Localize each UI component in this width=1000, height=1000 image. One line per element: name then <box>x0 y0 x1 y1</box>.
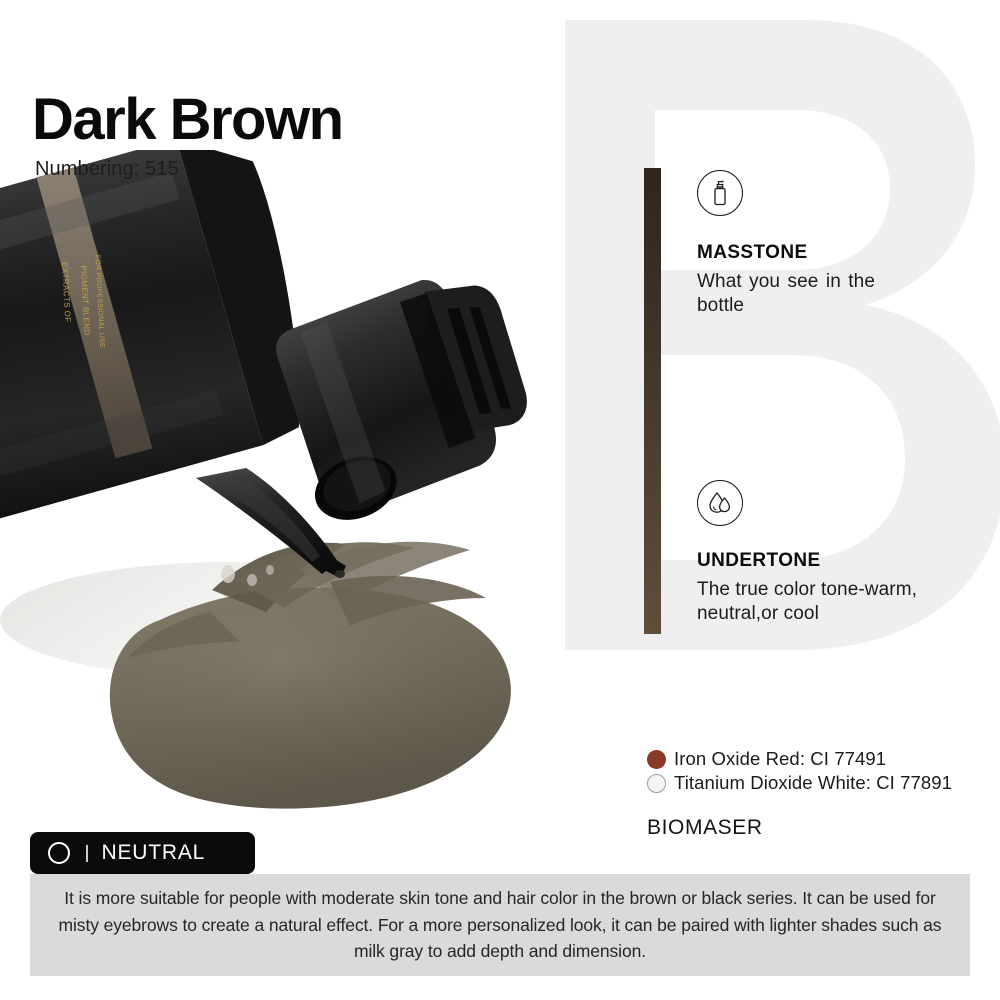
ingredient-label: Titanium Dioxide White: CI 77891 <box>674 772 952 794</box>
masstone-heading: MASSTONE <box>697 242 957 264</box>
list-item: Iron Oxide Red: CI 77491 <box>647 748 952 770</box>
badge-divider <box>86 845 88 862</box>
masstone-block: MASSTONE What you see in the bottle <box>697 242 957 319</box>
numbering-label: Numbering: 515 <box>35 158 179 181</box>
page-title: Dark Brown <box>32 86 343 153</box>
ingredient-label: Iron Oxide Red: CI 77491 <box>674 748 886 770</box>
bottle-pump-icon <box>697 170 743 216</box>
product-color-card: Dark Brown Numbering: 515 <box>0 0 1000 1000</box>
undertone-heading: UNDERTONE <box>697 550 982 572</box>
undertone-block: UNDERTONE The true color tone-warm, neut… <box>697 550 982 627</box>
product-photo: BIOMASER PERMANENT MAKEUP 515 EXTRACTS O… <box>0 150 640 850</box>
titanium-dioxide-white-swatch-icon <box>647 774 666 793</box>
masstone-description: What you see in the bottle <box>697 270 875 319</box>
ingredients-list: Iron Oxide Red: CI 77491 Titanium Dioxid… <box>647 748 952 796</box>
water-drop-icon <box>697 480 743 526</box>
undertone-description: The true color tone-warm, neutral,or coo… <box>697 578 982 627</box>
tone-gradient-bar <box>644 168 661 634</box>
iron-oxide-red-swatch-icon <box>647 750 666 769</box>
badge-label: NEUTRAL <box>102 841 206 865</box>
list-item: Titanium Dioxide White: CI 77891 <box>647 772 952 794</box>
description-text: It is more suitable for people with mode… <box>50 885 950 965</box>
description-band: It is more suitable for people with mode… <box>30 874 970 976</box>
circle-outline-icon <box>48 842 70 864</box>
brand-wordmark: BIOMASER <box>647 816 763 840</box>
status-badge: NEUTRAL <box>30 832 255 874</box>
